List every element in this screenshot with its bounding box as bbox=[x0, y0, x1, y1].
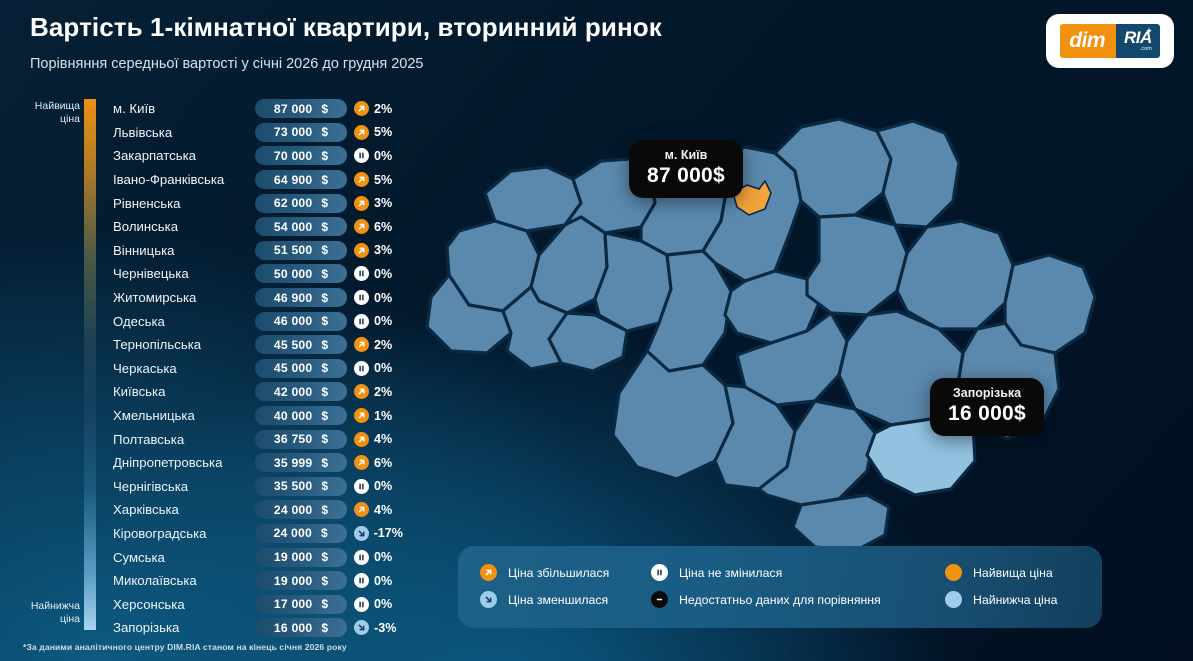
trend-group: 3% bbox=[354, 243, 392, 258]
price-pill: 87 000$ bbox=[255, 99, 347, 118]
trend-group: 6% bbox=[354, 455, 392, 470]
scale-high-line1: Найвища bbox=[35, 100, 80, 112]
scale-label-lowest: Найнижча ціна bbox=[12, 600, 80, 626]
arrow-up-right-icon bbox=[354, 196, 369, 211]
price-value: 46 000 bbox=[274, 314, 312, 328]
pause-icon bbox=[354, 148, 369, 163]
table-row[interactable]: Запорізька16 000$-3% bbox=[113, 616, 403, 640]
swatch-low-icon bbox=[945, 591, 962, 608]
trend-percent: 0% bbox=[374, 479, 392, 493]
trend-percent: 4% bbox=[374, 503, 392, 517]
trend-group: 1% bbox=[354, 408, 392, 423]
pause-icon bbox=[354, 290, 369, 305]
trend-group: 4% bbox=[354, 432, 392, 447]
currency-symbol: $ bbox=[321, 432, 328, 446]
arrow-up-right-icon bbox=[354, 502, 369, 517]
legend-label: Недостатньо даних для порівняння bbox=[679, 593, 881, 607]
arrow-up-right-icon bbox=[354, 219, 369, 234]
table-row[interactable]: Миколаївська19 000$0% bbox=[113, 569, 403, 593]
price-value: 45 500 bbox=[274, 338, 312, 352]
price-pill: 73 000$ bbox=[255, 123, 347, 142]
price-value: 24 000 bbox=[274, 526, 312, 540]
table-row[interactable]: Херсонська17 000$0% bbox=[113, 592, 403, 616]
table-row[interactable]: Одеська46 000$0% bbox=[113, 309, 403, 333]
price-pill: 51 500$ bbox=[255, 241, 347, 260]
price-value: 46 900 bbox=[274, 291, 312, 305]
currency-symbol: $ bbox=[321, 314, 328, 328]
price-value: 45 000 bbox=[274, 361, 312, 375]
trend-percent: 3% bbox=[374, 243, 392, 257]
trend-percent: -3% bbox=[374, 621, 396, 635]
trend-percent: 0% bbox=[374, 361, 392, 375]
pause-icon bbox=[354, 314, 369, 329]
table-row[interactable]: Житомирська46 900$0% bbox=[113, 286, 403, 310]
price-value: 70 000 bbox=[274, 149, 312, 163]
table-row[interactable]: Черкаська45 000$0% bbox=[113, 357, 403, 381]
arrow-up-right-icon bbox=[354, 172, 369, 187]
region-name: Житомирська bbox=[113, 290, 255, 305]
region-name: Вінницька bbox=[113, 243, 255, 258]
region-name: Київська bbox=[113, 384, 255, 399]
region-name: Херсонська bbox=[113, 597, 255, 612]
price-pill: 35 999$ bbox=[255, 453, 347, 472]
region-name: Дніпропетровська bbox=[113, 455, 255, 470]
legend-column-trend-arrows: Ціна збільшиласяЦіна зменшилася bbox=[480, 559, 609, 613]
trend-group: 2% bbox=[354, 384, 392, 399]
currency-symbol: $ bbox=[321, 597, 328, 611]
trend-percent: -17% bbox=[374, 526, 403, 540]
price-table: м. Київ87 000$2%Львівська73 000$5%Закарп… bbox=[113, 97, 403, 640]
currency-symbol: $ bbox=[321, 291, 328, 305]
region-name: Чернігівська bbox=[113, 479, 255, 494]
price-value: 51 500 bbox=[274, 243, 312, 257]
logo-ria-block: ✦ RIA .com bbox=[1116, 24, 1160, 58]
arrow-down-right-icon bbox=[354, 526, 369, 541]
trend-group: 0% bbox=[354, 314, 392, 329]
price-value: 50 000 bbox=[274, 267, 312, 281]
currency-symbol: $ bbox=[321, 220, 328, 234]
map-tooltip-kyiv: м. Київ 87 000$ bbox=[629, 140, 743, 198]
price-pill: 16 000$ bbox=[255, 618, 347, 637]
currency-symbol: $ bbox=[321, 503, 328, 517]
arrow-up-right-icon bbox=[354, 125, 369, 140]
price-value: 17 000 bbox=[274, 597, 312, 611]
trend-group: 6% bbox=[354, 219, 392, 234]
currency-symbol: $ bbox=[321, 550, 328, 564]
legend-label: Найвища ціна bbox=[973, 566, 1053, 580]
legend-label: Найнижча ціна bbox=[973, 593, 1057, 607]
trend-percent: 1% bbox=[374, 409, 392, 423]
region-name: Хмельницька bbox=[113, 408, 255, 423]
table-row[interactable]: м. Київ87 000$2% bbox=[113, 97, 403, 121]
arrow-down-right-icon bbox=[480, 591, 497, 608]
trend-group: -17% bbox=[354, 526, 403, 541]
table-row[interactable]: Дніпропетровська35 999$6% bbox=[113, 451, 403, 475]
table-row[interactable]: Харківська24 000$4% bbox=[113, 498, 403, 522]
region-name: Запорізька bbox=[113, 620, 255, 635]
trend-group: 2% bbox=[354, 337, 392, 352]
region-name: Чернівецька bbox=[113, 266, 255, 281]
trend-group: 0% bbox=[354, 597, 392, 612]
minus-icon bbox=[651, 591, 668, 608]
legend-column-trend-neutral: Ціна не зміниласяНедостатньо даних для п… bbox=[651, 559, 881, 613]
currency-symbol: $ bbox=[321, 196, 328, 210]
trend-percent: 0% bbox=[374, 597, 392, 611]
trend-group: 4% bbox=[354, 502, 392, 517]
arrow-down-right-icon bbox=[354, 620, 369, 635]
region-name: Львівська bbox=[113, 125, 255, 140]
trend-group: -3% bbox=[354, 620, 396, 635]
table-row[interactable]: Сумська19 000$0% bbox=[113, 545, 403, 569]
region-name: м. Київ bbox=[113, 101, 255, 116]
trend-percent: 5% bbox=[374, 125, 392, 139]
currency-symbol: $ bbox=[321, 125, 328, 139]
price-value: 42 000 bbox=[274, 385, 312, 399]
pause-icon bbox=[354, 361, 369, 376]
trend-group: 0% bbox=[354, 361, 392, 376]
price-pill: 42 000$ bbox=[255, 382, 347, 401]
logo-com-text: .com bbox=[1140, 47, 1152, 53]
footnote: *За даними аналітичного центру DIM.RIA с… bbox=[23, 642, 347, 652]
price-value: 24 000 bbox=[274, 503, 312, 517]
legend-column-extremes: Найвища цінаНайнижча ціна bbox=[945, 559, 1057, 613]
pause-icon bbox=[651, 564, 668, 581]
price-pill: 46 000$ bbox=[255, 312, 347, 331]
logo-dim-text: dim bbox=[1060, 24, 1116, 58]
trend-group: 3% bbox=[354, 196, 392, 211]
price-value: 35 500 bbox=[274, 479, 312, 493]
currency-symbol: $ bbox=[321, 243, 328, 257]
pause-icon bbox=[354, 550, 369, 565]
trend-group: 0% bbox=[354, 290, 392, 305]
arrow-up-right-icon bbox=[354, 408, 369, 423]
table-row[interactable]: Кіровоградська24 000$-17% bbox=[113, 522, 403, 546]
currency-symbol: $ bbox=[321, 102, 328, 116]
legend-item: Ціна зменшилася bbox=[480, 586, 609, 613]
trend-percent: 0% bbox=[374, 574, 392, 588]
table-row[interactable]: Львівська73 000$5% bbox=[113, 121, 403, 145]
trend-group: 0% bbox=[354, 550, 392, 565]
arrow-up-right-icon bbox=[354, 432, 369, 447]
region-name: Миколаївська bbox=[113, 573, 255, 588]
price-value: 16 000 bbox=[274, 621, 312, 635]
price-value: 19 000 bbox=[274, 550, 312, 564]
legend-label: Ціна збільшилася bbox=[508, 566, 609, 580]
pause-icon bbox=[354, 479, 369, 494]
trend-percent: 6% bbox=[374, 456, 392, 470]
table-row[interactable]: Івано-Франківська64 900$5% bbox=[113, 168, 403, 192]
price-pill: 62 000$ bbox=[255, 194, 347, 213]
region-name: Кіровоградська bbox=[113, 526, 255, 541]
table-row[interactable]: Вінницька51 500$3% bbox=[113, 239, 403, 263]
arrow-up-right-icon bbox=[480, 564, 497, 581]
price-value: 54 000 bbox=[274, 220, 312, 234]
table-row[interactable]: Закарпатська70 000$0% bbox=[113, 144, 403, 168]
table-row[interactable]: Київська42 000$2% bbox=[113, 380, 403, 404]
region-name: Тернопільська bbox=[113, 337, 255, 352]
price-pill: 19 000$ bbox=[255, 548, 347, 567]
currency-symbol: $ bbox=[321, 338, 328, 352]
currency-symbol: $ bbox=[321, 456, 328, 470]
price-pill: 24 000$ bbox=[255, 500, 347, 519]
trend-percent: 0% bbox=[374, 291, 392, 305]
trend-group: 0% bbox=[354, 573, 392, 588]
price-pill: 17 000$ bbox=[255, 595, 347, 614]
currency-symbol: $ bbox=[321, 385, 328, 399]
price-value: 62 000 bbox=[274, 196, 312, 210]
currency-symbol: $ bbox=[321, 361, 328, 375]
price-pill: 35 500$ bbox=[255, 477, 347, 496]
table-row[interactable]: Чернівецька50 000$0% bbox=[113, 262, 403, 286]
table-row[interactable]: Волинська54 000$6% bbox=[113, 215, 403, 239]
trend-percent: 6% bbox=[374, 220, 392, 234]
region-name: Харківська bbox=[113, 502, 255, 517]
region-name: Черкаська bbox=[113, 361, 255, 376]
pause-icon bbox=[354, 573, 369, 588]
currency-symbol: $ bbox=[321, 574, 328, 588]
scale-label-highest: Найвища ціна bbox=[12, 100, 80, 126]
header: Вартість 1-кімнатної квартири, вторинний… bbox=[30, 12, 662, 72]
table-row[interactable]: Рівненська62 000$3% bbox=[113, 191, 403, 215]
trend-group: 2% bbox=[354, 101, 392, 116]
price-pill: 70 000$ bbox=[255, 146, 347, 165]
page-subtitle: Порівняння середньої вартості у січні 20… bbox=[30, 56, 662, 72]
currency-symbol: $ bbox=[321, 173, 328, 187]
trend-group: 5% bbox=[354, 172, 392, 187]
region-name: Івано-Франківська bbox=[113, 172, 255, 187]
region-name: Закарпатська bbox=[113, 148, 255, 163]
arrow-up-right-icon bbox=[354, 101, 369, 116]
arrow-up-right-icon bbox=[354, 337, 369, 352]
trend-group: 5% bbox=[354, 125, 392, 140]
trend-percent: 0% bbox=[374, 267, 392, 281]
region-name: Одеська bbox=[113, 314, 255, 329]
star-icon: ✦ bbox=[1145, 27, 1153, 36]
ukraine-map bbox=[415, 75, 1175, 575]
tooltip-kyiv-value: 87 000$ bbox=[647, 164, 725, 188]
price-pill: 19 000$ bbox=[255, 571, 347, 590]
table-row[interactable]: Хмельницька40 000$1% bbox=[113, 404, 403, 428]
region-name: Волинська bbox=[113, 219, 255, 234]
trend-percent: 0% bbox=[374, 550, 392, 564]
currency-symbol: $ bbox=[321, 479, 328, 493]
legend-item: Ціна збільшилася bbox=[480, 559, 609, 586]
region-name: Сумська bbox=[113, 550, 255, 565]
legend-item: Ціна не змінилася bbox=[651, 559, 881, 586]
scale-low-line1: Найнижча bbox=[31, 600, 80, 612]
trend-group: 0% bbox=[354, 148, 392, 163]
legend-item: Недостатньо даних для порівняння bbox=[651, 586, 881, 613]
trend-percent: 0% bbox=[374, 149, 392, 163]
pause-icon bbox=[354, 597, 369, 612]
infographic-canvas: Вартість 1-кімнатної квартири, вторинний… bbox=[0, 0, 1193, 661]
trend-percent: 4% bbox=[374, 432, 392, 446]
price-pill: 54 000$ bbox=[255, 217, 347, 236]
legend-item: Найвища ціна bbox=[945, 559, 1057, 586]
tooltip-kyiv-name: м. Київ bbox=[647, 148, 725, 162]
price-value: 64 900 bbox=[274, 173, 312, 187]
price-pill: 64 900$ bbox=[255, 170, 347, 189]
arrow-up-right-icon bbox=[354, 243, 369, 258]
page-title: Вартість 1-кімнатної квартири, вторинний… bbox=[30, 12, 662, 43]
pause-icon bbox=[354, 266, 369, 281]
price-value: 40 000 bbox=[274, 409, 312, 423]
currency-symbol: $ bbox=[321, 267, 328, 281]
legend-label: Ціна зменшилася bbox=[508, 593, 608, 607]
scale-low-line2: ціна bbox=[60, 613, 80, 625]
trend-percent: 0% bbox=[374, 314, 392, 328]
price-pill: 45 000$ bbox=[255, 359, 347, 378]
tooltip-zap-name: Запорізька bbox=[948, 386, 1026, 400]
table-row[interactable]: Тернопільська45 500$2% bbox=[113, 333, 403, 357]
scale-gradient-bar bbox=[84, 99, 96, 630]
trend-percent: 5% bbox=[374, 173, 392, 187]
price-value: 87 000 bbox=[274, 102, 312, 116]
price-value: 35 999 bbox=[274, 456, 312, 470]
price-pill: 40 000$ bbox=[255, 406, 347, 425]
price-value: 36 750 bbox=[274, 432, 312, 446]
price-pill: 50 000$ bbox=[255, 264, 347, 283]
tooltip-zap-value: 16 000$ bbox=[948, 402, 1026, 426]
currency-symbol: $ bbox=[321, 526, 328, 540]
arrow-up-right-icon bbox=[354, 384, 369, 399]
price-pill: 46 900$ bbox=[255, 288, 347, 307]
region-name: Полтавська bbox=[113, 432, 255, 447]
price-value: 73 000 bbox=[274, 125, 312, 139]
currency-symbol: $ bbox=[321, 621, 328, 635]
price-value: 19 000 bbox=[274, 574, 312, 588]
trend-percent: 3% bbox=[374, 196, 392, 210]
legend-label: Ціна не змінилася bbox=[679, 566, 782, 580]
scale-high-line2: ціна bbox=[60, 113, 80, 125]
legend-panel: Ціна збільшиласяЦіна зменшилася Ціна не … bbox=[458, 546, 1102, 628]
logo-inner: dim ✦ RIA .com bbox=[1060, 24, 1160, 58]
table-row[interactable]: Чернігівська35 500$0% bbox=[113, 475, 403, 499]
price-pill: 24 000$ bbox=[255, 524, 347, 543]
legend-item: Найнижча ціна bbox=[945, 586, 1057, 613]
trend-group: 0% bbox=[354, 479, 392, 494]
swatch-high-icon bbox=[945, 564, 962, 581]
price-pill: 45 500$ bbox=[255, 335, 347, 354]
trend-percent: 2% bbox=[374, 102, 392, 116]
trend-group: 0% bbox=[354, 266, 392, 281]
arrow-up-right-icon bbox=[354, 455, 369, 470]
dim-ria-logo[interactable]: dim ✦ RIA .com bbox=[1046, 14, 1174, 68]
trend-percent: 2% bbox=[374, 338, 392, 352]
price-pill: 36 750$ bbox=[255, 430, 347, 449]
trend-percent: 2% bbox=[374, 385, 392, 399]
map-tooltip-zaporizhzhia: Запорізька 16 000$ bbox=[930, 378, 1044, 436]
currency-symbol: $ bbox=[321, 149, 328, 163]
price-scale: Найвища ціна Найнижча ціна bbox=[0, 0, 80, 661]
table-row[interactable]: Полтавська36 750$4% bbox=[113, 427, 403, 451]
currency-symbol: $ bbox=[321, 409, 328, 423]
region-name: Рівненська bbox=[113, 196, 255, 211]
